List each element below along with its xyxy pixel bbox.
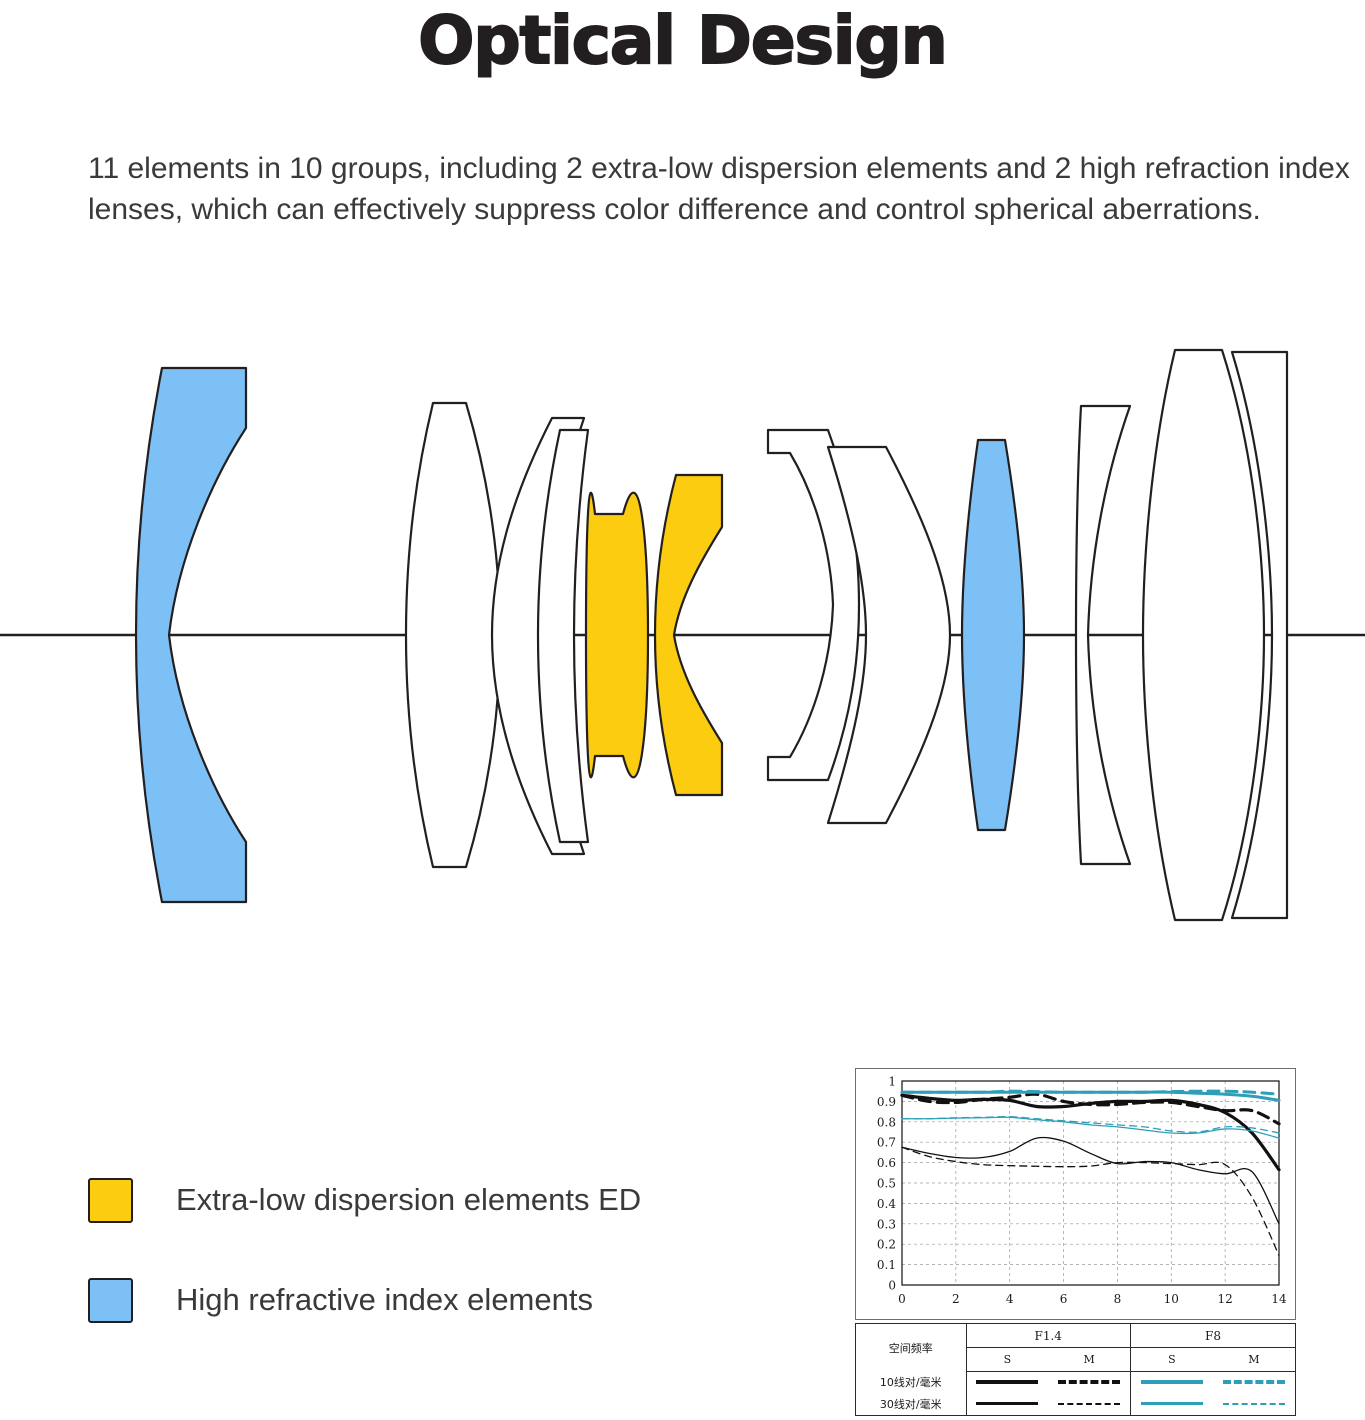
mtf-col-f14-s: S <box>966 1348 1048 1371</box>
svg-text:0.1: 0.1 <box>877 1258 896 1272</box>
svg-text:0: 0 <box>888 1279 896 1293</box>
mtf-x-axis-labels: 02468101214 <box>898 1292 1287 1306</box>
mtf-aperture-header-f14: F1.4 <box>966 1324 1131 1348</box>
svg-text:0.8: 0.8 <box>877 1115 896 1129</box>
legend-item-ed: Extra-low dispersion elements ED <box>88 1176 788 1224</box>
lens-element-9 <box>962 440 1024 830</box>
svg-text:4: 4 <box>1006 1292 1014 1306</box>
mtf-legend-header-row: 空间频率 F1.4 F8 <box>856 1324 1295 1348</box>
svg-text:0.9: 0.9 <box>877 1095 896 1109</box>
mtf-series-3 <box>902 1147 1279 1255</box>
optical-diagram-svg <box>0 330 1365 950</box>
svg-text:14: 14 <box>1271 1292 1287 1306</box>
legend-label-high-index: High refractive index elements <box>176 1283 593 1317</box>
mtf-sample-f8-10-s <box>1131 1371 1213 1393</box>
svg-text:2: 2 <box>952 1292 960 1306</box>
mtf-col-f14-m: M <box>1048 1348 1130 1371</box>
mtf-legend-table: 空间频率 F1.4 F8 S M S M 10线对/毫米 <box>855 1323 1296 1416</box>
mtf-sample-f8-30-m <box>1213 1393 1295 1415</box>
svg-text:6: 6 <box>1060 1292 1068 1306</box>
mtf-sample-f8-30-s <box>1131 1393 1213 1415</box>
mtf-frequency-header: 空间频率 <box>856 1324 966 1371</box>
svg-text:10: 10 <box>1164 1292 1179 1306</box>
legend-label-ed: Extra-low dispersion elements ED <box>176 1183 641 1217</box>
mtf-sample-f14-10-m <box>1048 1371 1130 1393</box>
mtf-row-label-30lp: 30线对/毫米 <box>856 1393 966 1415</box>
mtf-sample-f8-10-m <box>1213 1371 1295 1393</box>
legend-swatch-high-index <box>88 1278 133 1323</box>
optical-diagram <box>0 330 1365 950</box>
lens-element-2 <box>406 403 500 867</box>
page-title: Optical Design <box>0 2 1365 80</box>
svg-text:0.7: 0.7 <box>877 1136 896 1150</box>
legend: Extra-low dispersion elements ED High re… <box>88 1176 788 1376</box>
mtf-aperture-header-f8: F8 <box>1131 1324 1296 1348</box>
svg-text:0: 0 <box>898 1292 906 1306</box>
svg-text:0.5: 0.5 <box>877 1177 896 1191</box>
mtf-sample-f14-30-s <box>966 1393 1048 1415</box>
mtf-chart-frame: 00.10.20.30.40.50.60.70.80.91 0246810121… <box>855 1068 1296 1320</box>
mtf-row-label-10lp: 10线对/毫米 <box>856 1371 966 1393</box>
lens-element-11 <box>1143 350 1264 920</box>
mtf-legend-row-30lp: 30线对/毫米 <box>856 1393 1295 1415</box>
mtf-col-f8-s: S <box>1131 1348 1213 1371</box>
legend-swatch-ed <box>88 1178 133 1223</box>
svg-text:0.6: 0.6 <box>877 1156 896 1170</box>
mtf-chart-svg: 00.10.20.30.40.50.60.70.80.91 0246810121… <box>856 1069 1295 1319</box>
svg-text:8: 8 <box>1114 1292 1122 1306</box>
mtf-chart-block: 00.10.20.30.40.50.60.70.80.91 0246810121… <box>855 1068 1296 1416</box>
mtf-series-0 <box>902 1095 1279 1169</box>
mtf-curves <box>902 1091 1279 1255</box>
mtf-sample-f14-10-s <box>966 1371 1048 1393</box>
mtf-col-f8-m: M <box>1213 1348 1295 1371</box>
mtf-series-1 <box>902 1094 1279 1124</box>
svg-text:0.3: 0.3 <box>877 1217 896 1231</box>
mtf-series-2 <box>902 1138 1279 1224</box>
legend-item-high-index: High refractive index elements <box>88 1276 788 1324</box>
svg-text:1: 1 <box>888 1075 896 1089</box>
mtf-y-axis-labels: 00.10.20.30.40.50.60.70.80.91 <box>877 1075 896 1293</box>
svg-text:0.2: 0.2 <box>877 1238 896 1252</box>
mtf-sample-f14-30-m <box>1048 1393 1130 1415</box>
intro-paragraph: 11 elements in 10 groups, including 2 ex… <box>88 148 1350 230</box>
mtf-legend-row-10lp: 10线对/毫米 <box>856 1371 1295 1393</box>
mtf-series-6 <box>902 1117 1279 1138</box>
svg-text:0.4: 0.4 <box>877 1197 896 1211</box>
svg-text:12: 12 <box>1218 1292 1233 1306</box>
